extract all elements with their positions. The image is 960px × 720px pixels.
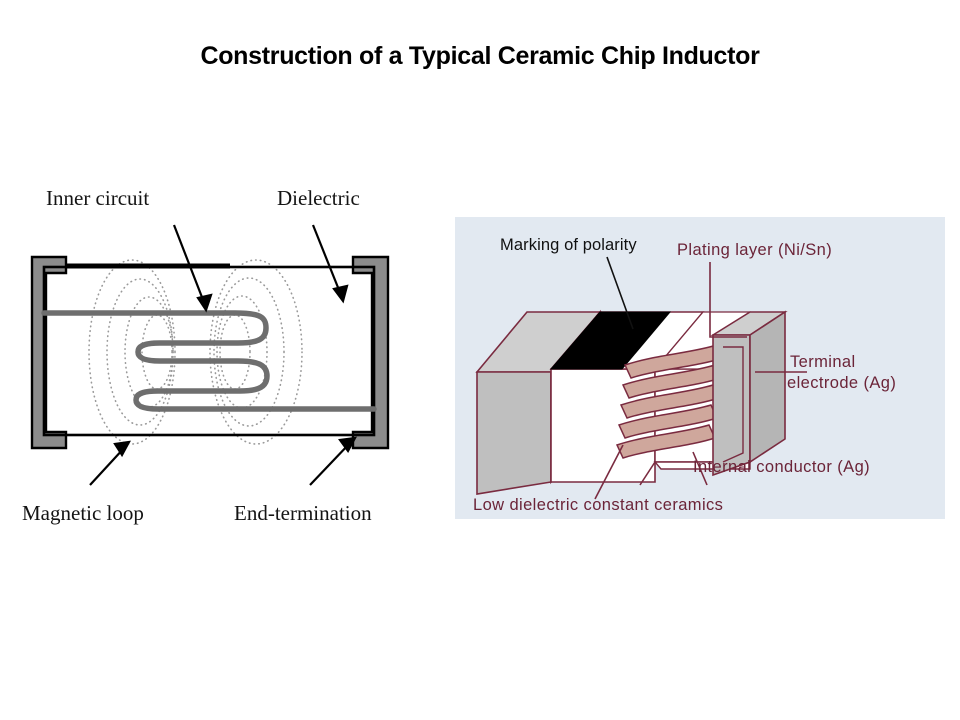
end-termination-left xyxy=(32,257,66,448)
label-terminal-electrode-line2: electrode (Ag) xyxy=(787,374,896,392)
label-plating-layer: Plating layer (Ni/Sn) xyxy=(677,241,832,259)
magnetic-flux-lines xyxy=(89,260,302,444)
leader-dielectric xyxy=(313,225,341,295)
inner-circuit-coil xyxy=(44,313,374,409)
label-terminal-electrode-line1: Terminal xyxy=(790,353,856,371)
label-dielectric: Dielectric xyxy=(277,186,360,210)
left-cross-section-figure: Inner circuit Dielectric Magnetic loop E… xyxy=(10,185,420,535)
leader-end-termination xyxy=(310,443,350,485)
label-marking-of-polarity: Marking of polarity xyxy=(500,236,637,254)
slide-canvas: Construction of a Typical Ceramic Chip I… xyxy=(0,0,960,720)
page-title: Construction of a Typical Ceramic Chip I… xyxy=(0,42,960,71)
label-internal-conductor: Internal conductor (Ag) xyxy=(693,458,870,476)
label-low-dielectric: Low dielectric constant ceramics xyxy=(473,496,723,514)
right-cutaway-figure: Marking of polarity Plating layer (Ni/Sn… xyxy=(455,217,945,519)
end-termination-right xyxy=(353,257,388,448)
label-magnetic-loop: Magnetic loop xyxy=(22,501,144,525)
label-inner-circuit: Inner circuit xyxy=(46,186,149,210)
label-end-termination: End-termination xyxy=(234,501,372,525)
